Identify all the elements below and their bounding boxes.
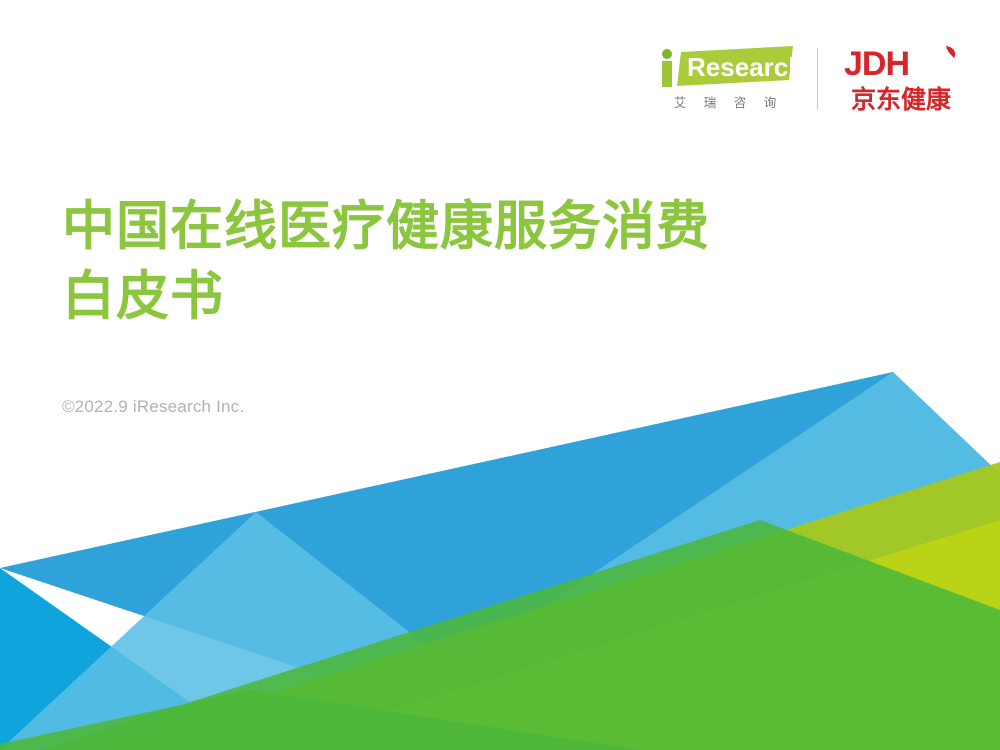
shape-lime-green-wedge	[265, 520, 1000, 750]
title-line-1: 中国在线医疗健康服务消费	[62, 192, 710, 262]
svg-text:Research: Research	[687, 52, 793, 82]
shape-medium-green-wedge	[0, 520, 1000, 750]
jdh-subtitle-icon: 京东健康	[842, 83, 960, 113]
copyright-text: ©2022.9 iResearch Inc.	[62, 397, 244, 417]
title-slide: Research 艾 瑞 咨 询 JDH 京东健康 中国在线医疗健康服务消费 白…	[0, 0, 1000, 750]
page-title: 中国在线医疗健康服务消费 白皮书	[62, 192, 710, 333]
jdh-wordmark-icon: JDH	[842, 44, 960, 82]
svg-text:JDH: JDH	[844, 45, 909, 82]
header-logo-row: Research 艾 瑞 咨 询 JDH 京东健康	[655, 44, 962, 113]
shape-olive-green-sheet	[90, 462, 1000, 750]
shape-bright-blue-left	[0, 568, 258, 750]
shape-light-blue-peak	[0, 512, 560, 750]
iresearch-wordmark-icon: Research	[657, 46, 793, 88]
title-line-2: 白皮书	[62, 262, 710, 332]
shape-deep-blue-band	[0, 372, 1000, 750]
shape-medium-green-left	[0, 690, 640, 750]
iresearch-subtitle: 艾 瑞 咨 询	[667, 92, 783, 111]
iresearch-logo: Research 艾 瑞 咨 询	[655, 46, 817, 111]
jdh-subtitle-text: 京东健康	[851, 85, 952, 113]
jdh-logo: JDH 京东健康	[840, 44, 962, 113]
logo-divider	[817, 48, 818, 110]
shape-light-blue-right-band	[330, 372, 1000, 750]
